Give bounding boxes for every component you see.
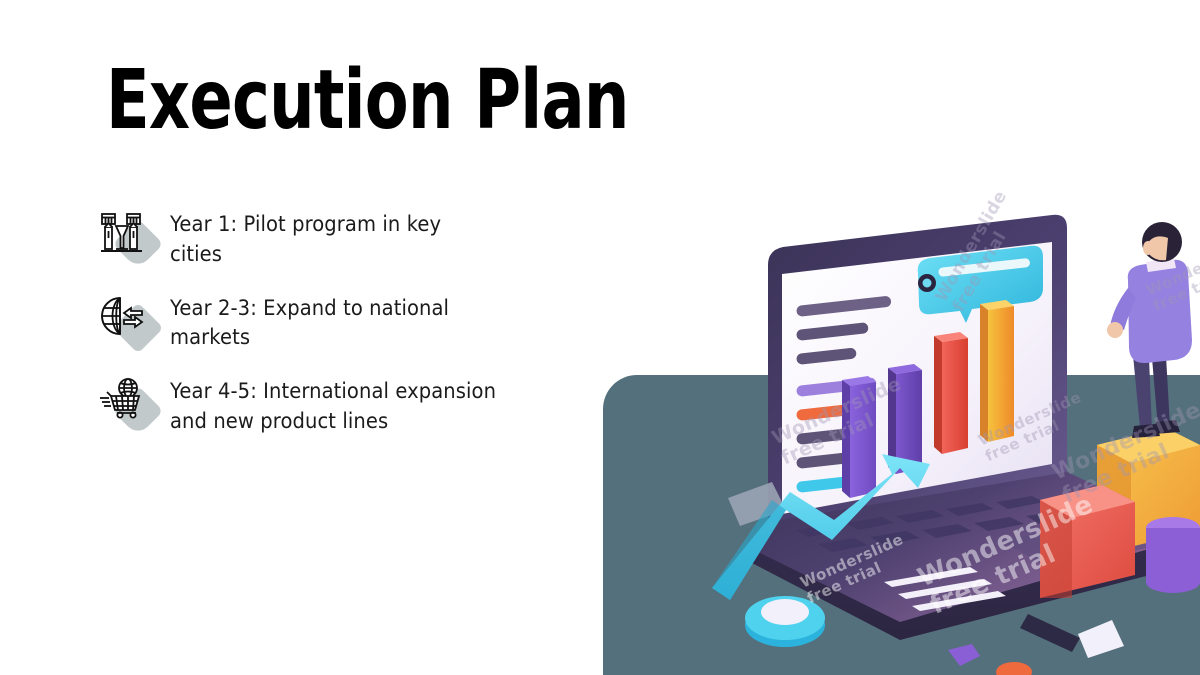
city-buildings-icon [98,208,146,256]
illustration-svg [600,210,1200,675]
globe-exchange-arrows-icon [98,292,146,340]
illustration-3d-laptop-analytics: Wonderslide free trial Wonderslide free … [600,210,1200,675]
list-item-label: Year 4-5: International expansion and ne… [170,375,499,437]
page-title: Execution Plan [106,58,629,144]
list-item-label: Year 2-3: Expand to national markets [170,292,499,354]
bullet-icon-container [94,375,170,431]
bullet-list: Year 1: Pilot program in key cities [94,208,524,459]
list-item: Year 2-3: Expand to national markets [94,292,524,354]
disc-button-icon [745,596,825,647]
standing-person-figure [1107,222,1192,438]
list-item: Year 4-5: International expansion and ne… [94,375,524,437]
bullet-icon-container [94,208,170,264]
list-item: Year 1: Pilot program in key cities [94,208,524,270]
slide-canvas: Execution Plan [0,0,1200,675]
list-item-label: Year 1: Pilot program in key cities [170,208,499,270]
small-shapes [948,644,1032,675]
shopping-cart-globe-icon [98,375,146,423]
stylus-pen-icon [1020,614,1124,658]
bullet-icon-container [94,292,170,348]
